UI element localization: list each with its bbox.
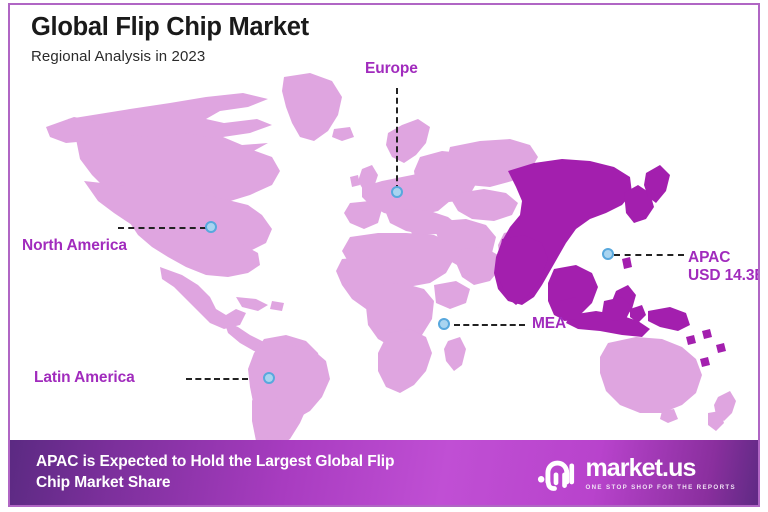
page-subtitle: Regional Analysis in 2023 bbox=[31, 48, 309, 65]
leader-line-latin-america bbox=[186, 378, 248, 380]
region-ireland-shape bbox=[350, 175, 360, 187]
banner-headline: APAC is Expected to Hold the Largest Glo… bbox=[36, 451, 394, 494]
region-apac-pacific-isles3-shape bbox=[700, 357, 710, 367]
map-land-group bbox=[46, 73, 736, 447]
region-label-north-america: North America bbox=[22, 237, 127, 255]
region-caribbean-2-shape bbox=[270, 301, 284, 311]
banner-headline-line2: Chip Market Share bbox=[36, 472, 394, 493]
region-apac-taiwan-shape bbox=[622, 257, 632, 269]
region-australia-shape bbox=[600, 337, 702, 413]
region-mexico-shape bbox=[160, 267, 246, 329]
map-marker-north-america[interactable] bbox=[205, 221, 217, 233]
region-iberia-shape bbox=[344, 201, 382, 229]
banner-headline-line1: APAC is Expected to Hold the Largest Glo… bbox=[36, 453, 394, 470]
region-value-apac: USD 14.3Bn bbox=[688, 267, 758, 285]
infographic-root: Global Flip Chip Market Regional Analysi… bbox=[0, 0, 768, 512]
infographic-canvas: Global Flip Chip Market Regional Analysi… bbox=[10, 5, 758, 505]
region-apac-india-shape bbox=[498, 235, 548, 305]
page-title: Global Flip Chip Market bbox=[31, 13, 309, 41]
leader-line-north-america bbox=[118, 227, 206, 229]
brand-logo[interactable]: market.us ONE STOP SHOP FOR THE REPORTS bbox=[536, 453, 736, 493]
region-arabia-shape bbox=[456, 247, 500, 285]
region-tasmania-shape bbox=[660, 409, 678, 423]
map-marker-europe[interactable] bbox=[391, 186, 403, 198]
map-marker-mea[interactable] bbox=[438, 318, 450, 330]
logo-text-block: market.us ONE STOP SHOP FOR THE REPORTS bbox=[585, 456, 736, 491]
logo-wordmark: market.us bbox=[585, 456, 736, 481]
region-madagascar-shape bbox=[444, 337, 466, 371]
bottom-banner: APAC is Expected to Hold the Largest Glo… bbox=[10, 440, 758, 505]
leader-line-mea bbox=[454, 324, 525, 326]
region-label-mea-text: MEA bbox=[532, 315, 566, 332]
region-label-north-america-text: North America bbox=[22, 237, 127, 254]
region-brazil-shape bbox=[276, 345, 330, 419]
region-central-asia-shape bbox=[452, 189, 518, 221]
region-greenland-shape bbox=[282, 73, 342, 141]
region-label-mea: MEA bbox=[532, 315, 566, 333]
region-apac-pacific-isles-shape bbox=[702, 329, 712, 339]
region-caribbean-1-shape bbox=[236, 297, 268, 311]
bar-chart-bubble-icon bbox=[536, 455, 576, 491]
region-label-europe: Europe bbox=[365, 60, 418, 78]
region-label-apac-text: APAC bbox=[688, 249, 730, 266]
region-south-africa-shape bbox=[378, 329, 432, 393]
region-horn-africa-shape bbox=[434, 281, 470, 309]
region-apac-png-shape bbox=[648, 307, 690, 331]
region-label-apac: APAC USD 14.3Bn bbox=[688, 249, 758, 285]
region-label-europe-text: Europe bbox=[365, 60, 418, 77]
header: Global Flip Chip Market Regional Analysi… bbox=[31, 13, 309, 65]
leader-line-europe bbox=[396, 88, 398, 191]
logo-tagline: ONE STOP SHOP FOR THE REPORTS bbox=[585, 484, 736, 491]
region-apac-pacific-isles2-shape bbox=[716, 343, 726, 353]
region-label-latin-america: Latin America bbox=[34, 369, 135, 387]
leader-line-apac bbox=[614, 254, 684, 256]
region-apac-pacific-isles4-shape bbox=[686, 335, 696, 345]
region-label-latin-america-text: Latin America bbox=[34, 369, 135, 386]
map-marker-latin-america[interactable] bbox=[263, 372, 275, 384]
region-iceland-shape bbox=[332, 127, 354, 141]
map-marker-apac[interactable] bbox=[602, 248, 614, 260]
